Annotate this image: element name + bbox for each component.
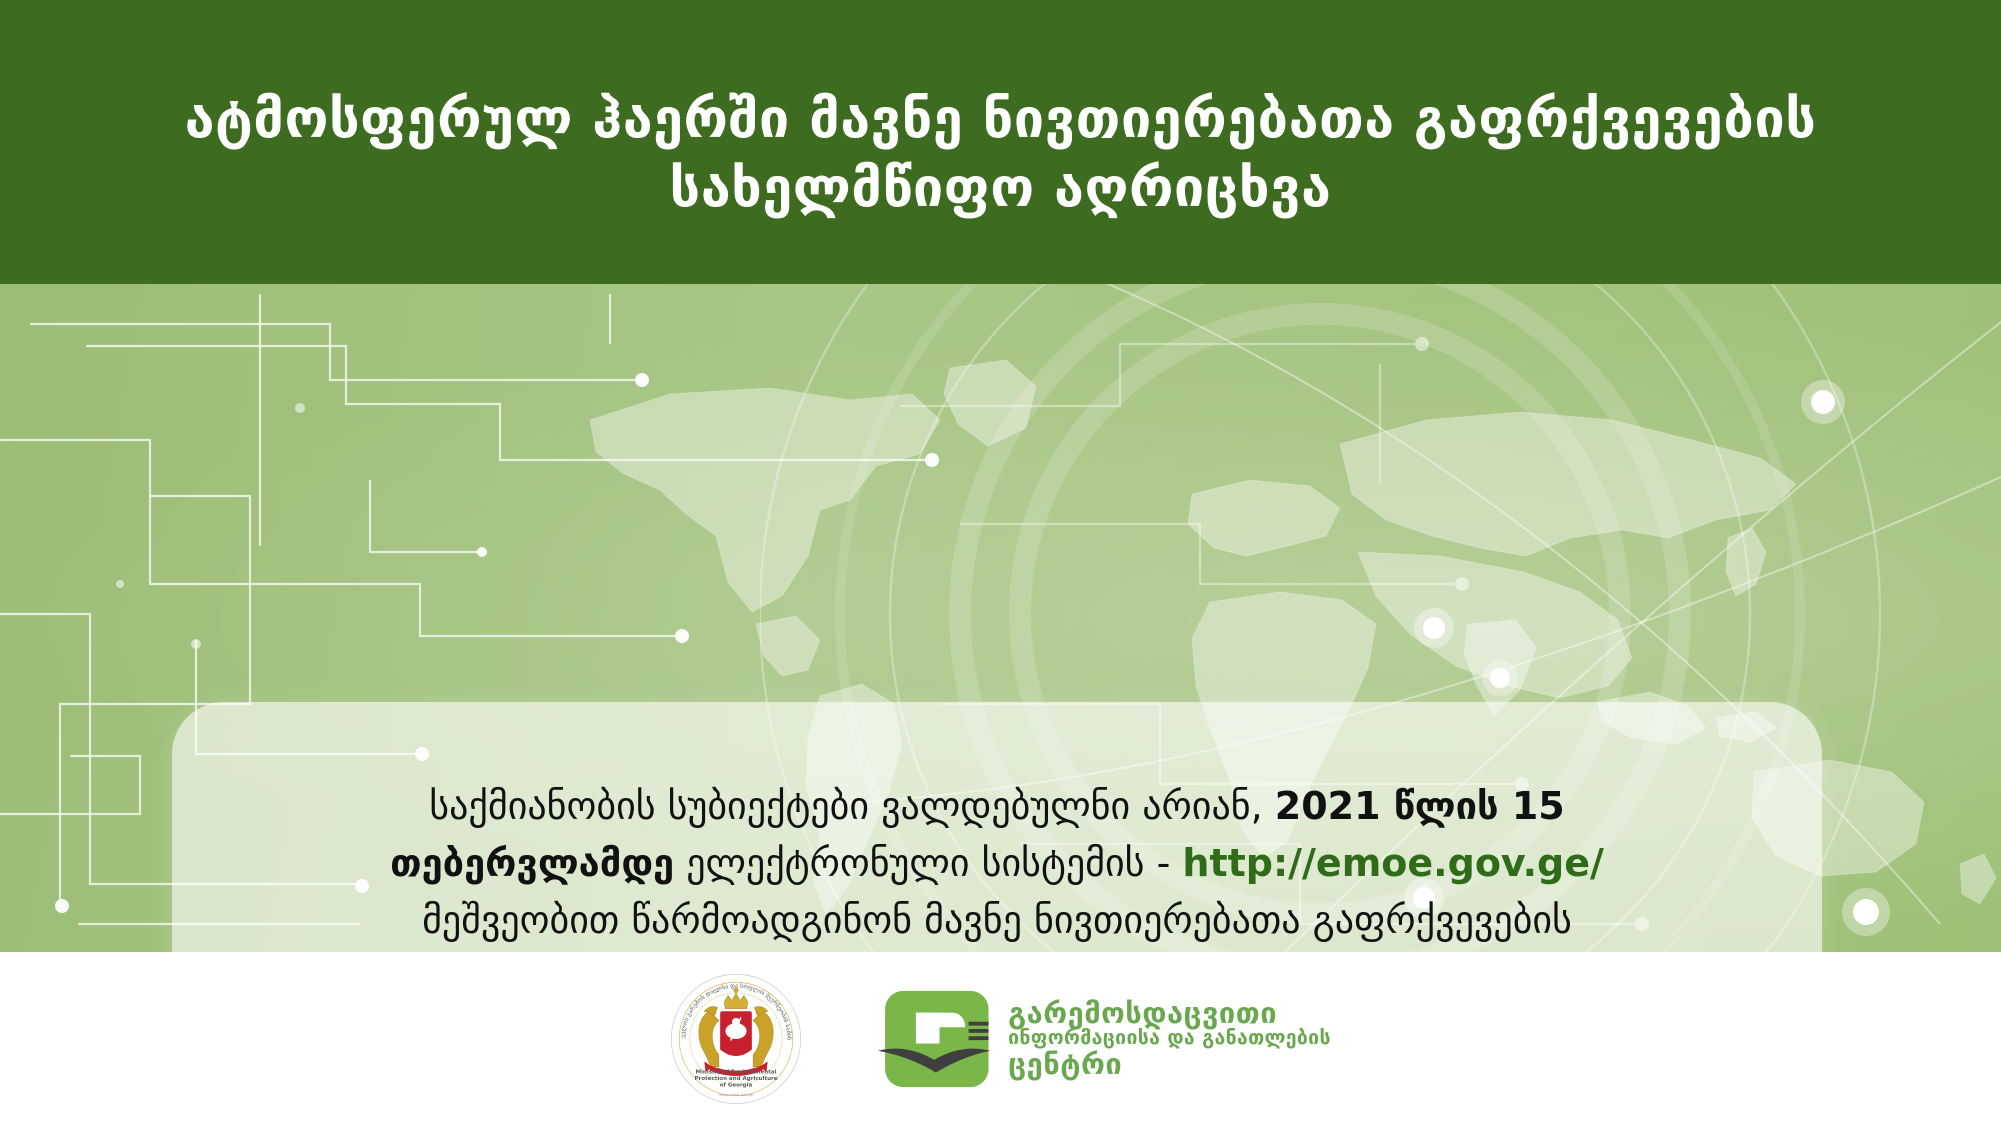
announcement-line-3: მეშვეობით წარმოადგინონ მავნე ნივთიერებათ… xyxy=(390,892,1604,949)
announcement-card: საქმიანობის სუბიექტები ვალდებულნი არიან,… xyxy=(172,702,1822,952)
poster-root: ატმოსფერულ ჰაერში მავნე ნივთიერებათა გაფ… xyxy=(0,0,2001,1125)
announcement-line-2-normal: ელექტრონული სისტემის - xyxy=(674,841,1182,885)
header-banner: ატმოსფერულ ჰაერში მავნე ნივთიერებათა გაფ… xyxy=(0,0,2001,284)
header-title-line-1: ატმოსფერულ ჰაერში მავნე ნივთიერებათა გაფ… xyxy=(185,84,1817,153)
announcement-deadline-month: თებერვლამდე xyxy=(390,841,674,885)
open-book-leaf-icon xyxy=(876,985,994,1093)
announcement-line-2: თებერვლამდე ელექტრონული სისტემის - http:… xyxy=(390,835,1604,892)
announcement-line-1: საქმიანობის სუბიექტები ვალდებულნი არიან,… xyxy=(390,778,1604,835)
seal-en-line-2: Protection and Agriculture xyxy=(695,1075,778,1081)
ministry-of-environmental-protection-seal: საქართველოს გარემოს დაცვისა და სოფლის მე… xyxy=(670,973,802,1105)
announcement-line-1-normal: საქმიანობის სუბიექტები ვალდებულნი არიან, xyxy=(429,784,1275,828)
ceic-name-line-1: გარემოსდაცვითი xyxy=(1008,998,1331,1028)
announcement-text: საქმიანობის სუბიექტები ვალდებულნი არიან,… xyxy=(330,778,1664,952)
seal-website: www.mepa.gov.ge xyxy=(719,1092,754,1096)
ceic-name-line-2: ინფორმაციისა და განათლების xyxy=(1008,1028,1331,1048)
emoe-portal-link[interactable]: http://emoe.gov.ge/ xyxy=(1182,841,1604,885)
ceic-name-line-3: ცენტრი xyxy=(1008,1049,1331,1079)
seal-en-line-1: Ministry of Environmental xyxy=(696,1069,777,1075)
seal-en-line-3: of Georgia xyxy=(720,1082,753,1088)
footer-logos: საქართველოს გარემოს დაცვისა და სოფლის მე… xyxy=(0,952,2001,1125)
ceic-wordmark: გარემოსდაცვითი ინფორმაციისა და განათლები… xyxy=(1008,998,1331,1079)
ceic-logo: გარემოსდაცვითი ინფორმაციისა და განათლები… xyxy=(876,985,1331,1093)
body-background: საქმიანობის სუბიექტები ვალდებულნი არიან,… xyxy=(0,284,2001,952)
announcement-deadline-date: 2021 წლის 15 xyxy=(1275,784,1565,828)
header-title-line-2: სახელმწიფო აღრიცხვა xyxy=(670,153,1332,222)
